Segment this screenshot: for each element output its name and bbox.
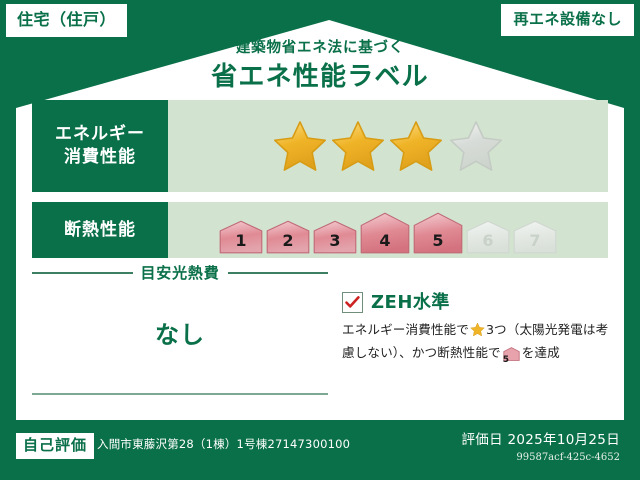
insulation-grade-chip-2: 2 [266, 220, 310, 254]
badge-building-type: 住宅（住戸） [6, 4, 127, 37]
title-subtitle: 建築物省エネ法に基づく [0, 40, 640, 57]
rule-right [228, 272, 329, 274]
energy-performance-label-line1: エネルギー [55, 123, 145, 146]
evaluation-id: 99587acf-425c-4652 [516, 452, 620, 464]
insulation-grade-chip-6: 6 [466, 220, 510, 254]
insulation-grade-inline-chip: 5 [503, 347, 520, 367]
insulation-grade-value: 1 [219, 233, 263, 249]
energy-performance-label: エネルギー 消費性能 [32, 100, 168, 192]
insulation-grade-value: 4 [360, 233, 410, 249]
insulation-grade-value: 5 [413, 233, 463, 249]
badge-renewable-energy: 再エネ設備なし [501, 4, 634, 36]
rule-left [32, 272, 133, 274]
evaluation-date: 評価日 2025年10月25日 [461, 432, 620, 448]
zeh-title-row: ZEH水準 [342, 292, 614, 313]
insulation-grade-chip-1: 1 [219, 220, 263, 254]
star-icon [470, 325, 485, 340]
insulation-grade-value: 6 [466, 233, 510, 249]
energy-cost-heading-text: 目安光熱費 [141, 262, 220, 283]
zeh-section: ZEH水準 エネルギー消費性能で3つ（太陽光発電は考慮しない）、かつ断熱性能で5… [342, 292, 614, 366]
footer: 自己評価 入間市東藤沢第28（1棟）1号棟27147300100 評価日 202… [0, 420, 640, 480]
insulation-grade-chip-7: 7 [513, 220, 557, 254]
insulation-grade-chip-3: 3 [313, 220, 357, 254]
title-block: 建築物省エネ法に基づく 省エネ性能ラベル [0, 40, 640, 94]
zeh-desc-part2: 3つ（太陽光発電 [486, 322, 583, 337]
energy-cost-underline [32, 393, 328, 395]
energy-performance-label: 住宅（住戸） 再エネ設備なし 建築物省エネ法に基づく 省エネ性能ラベル エネルギ… [0, 0, 640, 480]
energy-cost-heading: 目安光熱費 [32, 262, 328, 283]
insulation-performance-label: 断熱性能 [32, 202, 168, 258]
zeh-title: ZEH水準 [371, 294, 450, 312]
insulation-performance-label-text: 断熱性能 [64, 219, 136, 242]
star-filled-icon [331, 119, 385, 173]
insulation-performance-row: 断熱性能 1234567 [32, 202, 608, 258]
star-filled-icon [273, 119, 327, 173]
insulation-grade-value: 7 [513, 233, 557, 249]
energy-cost-value: なし [32, 315, 328, 350]
zeh-description: エネルギー消費性能で3つ（太陽光発電は考慮しない）、かつ断熱性能で5を達成 [342, 320, 614, 366]
checkbox-checked-icon [342, 292, 363, 313]
energy-cost-section: 目安光熱費 なし [32, 262, 328, 350]
star-empty-icon [449, 119, 503, 173]
insulation-grade-chip-4: 4 [360, 212, 410, 254]
property-address: 入間市東藤沢第28（1棟）1号棟27147300100 [97, 438, 350, 452]
star-rating [168, 100, 608, 192]
insulation-grade-value: 2 [266, 233, 310, 249]
insulation-grade-inline-value: 5 [503, 356, 520, 365]
insulation-grade-chip-5: 5 [413, 212, 463, 254]
badge-self-evaluation: 自己評価 [16, 433, 94, 459]
zeh-desc-part1: エネルギー消費性能で [342, 322, 469, 337]
star-filled-icon [389, 119, 443, 173]
energy-performance-row: エネルギー 消費性能 [32, 100, 608, 192]
energy-performance-label-line2: 消費性能 [64, 146, 136, 169]
insulation-grade-scale: 1234567 [168, 202, 608, 258]
zeh-desc-part4: を達成 [522, 345, 560, 360]
insulation-grade-value: 3 [313, 233, 357, 249]
page-title: 省エネ性能ラベル [0, 61, 640, 94]
